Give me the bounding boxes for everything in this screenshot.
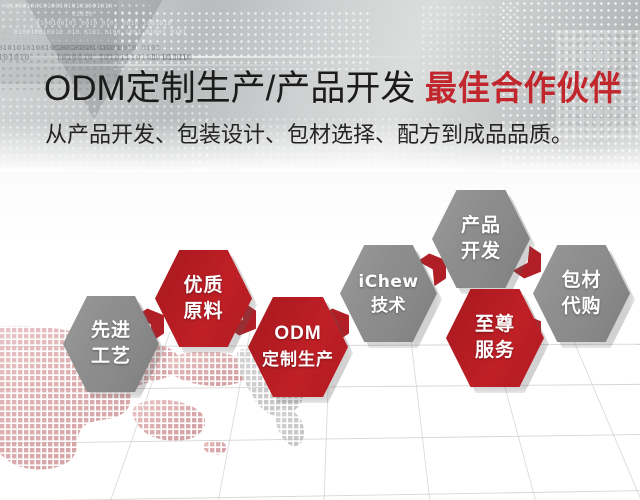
banner-stage: 01000100101001010101001010 0100100101 00… (0, 0, 640, 500)
hexagon-label-line2: 定制生产 (262, 347, 334, 373)
hexagon-label-line2: 开发 (461, 239, 501, 265)
binary-row-8: 01010 (72, 11, 93, 18)
binary-row-4: 010010010 101 0010 0101 (52, 44, 160, 52)
diagram-stage: 先进工艺优质原料ODM定制生产iChew技术产品开发至尊服务包材代购 (0, 172, 640, 500)
hexagon-label-line2: 服务 (475, 338, 515, 364)
hexagon-label-line2: 代购 (561, 294, 601, 320)
hero-background: 01000100101001010101001010 0100100101 00… (0, 0, 640, 172)
hexagon-label-line2: 原料 (183, 299, 223, 325)
binary-row-2: 010010010010 010 0101 0100 1001 01001 01… (14, 29, 187, 36)
title-main-text: ODM定制生产/产品开发 (44, 70, 415, 108)
banner-title: ODM定制生产/产品开发 最佳合作伙伴 (44, 70, 624, 114)
hexagon-label-line1: 至尊 (475, 312, 515, 338)
hexagon-label-line1: ODM (274, 321, 321, 347)
binary-row-0: 01000100101001010101001010 (6, 3, 113, 10)
binary-row-1: 0100100101 0010 0101 0010 1001010 (36, 20, 172, 27)
hexagon-label-line2: 工艺 (91, 344, 131, 370)
hexagon-label-line1: 先进 (91, 318, 131, 344)
binary-row-7: 101010 (0, 53, 30, 62)
title-accent-text: 最佳合作伙伴 (425, 70, 622, 108)
binary-row-6: 10101010 (150, 53, 193, 62)
hexagon-label-line1: 优质 (183, 273, 223, 299)
hexagon-label-line1: 产品 (461, 213, 501, 239)
hexagon-label-line1: iChew (358, 270, 418, 294)
banner-subtitle: 从产品开发、包装设计、包材选择、配方到成品品质。 (45, 121, 573, 149)
hexagon-label-line1: 包材 (561, 268, 601, 294)
hexagon-label-line2: 技术 (371, 294, 406, 318)
